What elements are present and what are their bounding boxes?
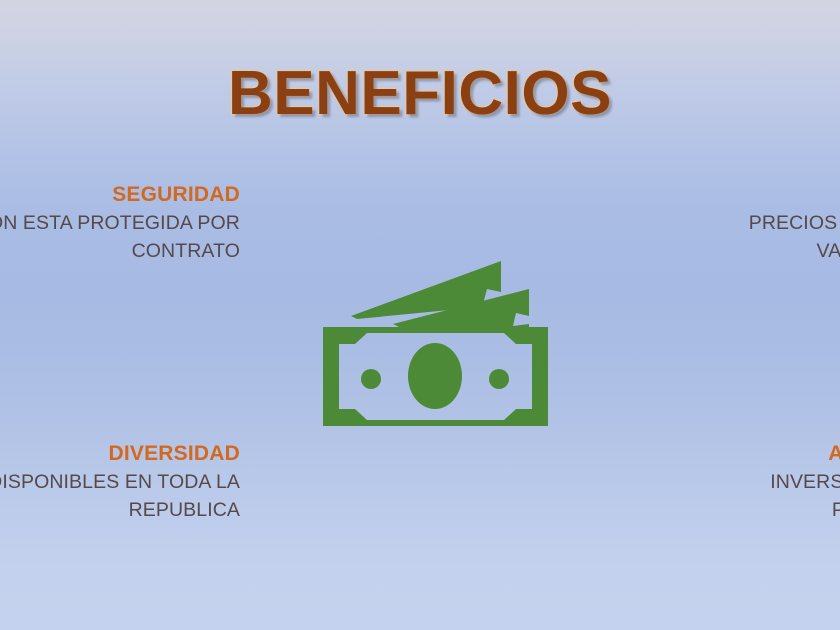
benefit-line: CONTRATO [0, 238, 240, 266]
money-note-left-dot [361, 369, 381, 389]
benefit-body-diversidad: DISPONIBLES EN TODA LA REPUBLICA [0, 469, 240, 524]
benefit-body-seguridad: ON ESTA PROTEGIDA POR CONTRATO [0, 210, 240, 265]
benefit-heading-diversidad: DIVERSIDAD [0, 441, 240, 467]
money-note-center-oval [408, 343, 462, 409]
benefit-block-diversidad: DIVERSIDAD DISPONIBLES EN TODA LA REPUBL… [0, 441, 240, 525]
benefit-block-ahorro: AHORRO PRECIOS MUY POR DEB VALOR COMERCI [600, 182, 840, 266]
benefit-heading-seguridad: SEGURIDAD [0, 182, 240, 208]
benefit-line: ON ESTA PROTEGIDA POR [0, 210, 240, 238]
benefit-line: DISPONIBLES EN TODA LA [0, 469, 240, 497]
money-banknote-icon [305, 248, 565, 438]
benefit-heading-accesibilidad: ACCESIBILIDA [600, 441, 840, 467]
slide-canvas: BENEFICIOS SEGURIDAD ON ESTA PROTEGIDA P… [0, 0, 840, 630]
benefit-line: REPUBLICA [0, 497, 240, 525]
benefit-body-accesibilidad: INVERSIONES ACORD PRESUPUESTO [600, 469, 840, 524]
benefit-body-ahorro: PRECIOS MUY POR DEB VALOR COMERCI [600, 210, 840, 265]
benefit-block-seguridad: SEGURIDAD ON ESTA PROTEGIDA POR CONTRATO [0, 182, 240, 266]
benefit-heading-ahorro: AHORRO [600, 182, 840, 208]
benefit-line: PRECIOS MUY POR DEB [600, 210, 840, 238]
money-note-right-dot [489, 369, 509, 389]
benefit-line: INVERSIONES ACORD [600, 469, 840, 497]
page-title: BENEFICIOS [0, 61, 840, 126]
benefit-block-accesibilidad: ACCESIBILIDA INVERSIONES ACORD PRESUPUES… [600, 441, 840, 525]
benefit-line: PRESUPUESTO [600, 497, 840, 525]
benefit-line: VALOR COMERCI [600, 238, 840, 266]
